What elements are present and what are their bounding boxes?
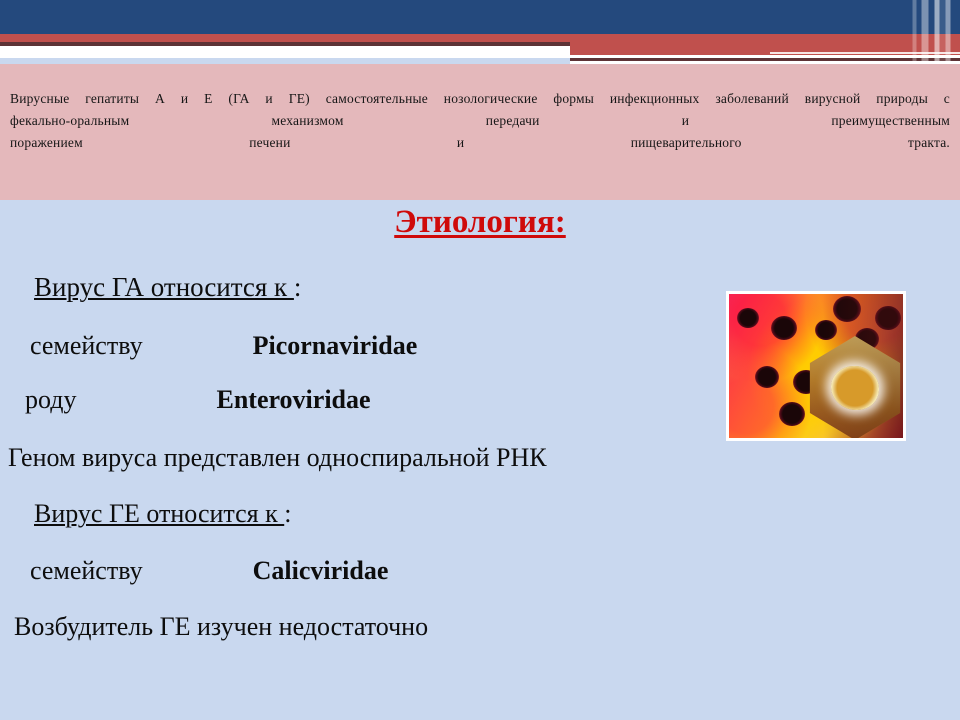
genome-line: Геном вируса представлен односпиральной … <box>8 443 547 473</box>
header-right-thin-rule <box>770 52 960 54</box>
page-title: Этиология: <box>0 204 960 241</box>
slide: Вирусные гепатиты А и Е (ГА и ГЕ) самост… <box>0 0 960 720</box>
family-row-1: семействуPicornaviridae <box>30 331 417 361</box>
intro-paragraph: Вирусные гепатиты А и Е (ГА и ГЕ) самост… <box>10 88 950 154</box>
intro-line-2: фекально-оральным механизмом передачи и … <box>10 110 950 132</box>
header-navy-band <box>0 0 960 34</box>
virus-e-heading: Вирус ГЕ относится к : <box>34 499 291 529</box>
micrograph-canvas <box>729 294 903 438</box>
genus-value: Enteroviridae <box>216 385 370 414</box>
virus-a-heading-text: Вирус ГА относится к <box>34 272 294 302</box>
virus-a-heading-colon: : <box>294 272 302 302</box>
family-value-2: Calicviridae <box>253 556 389 585</box>
family-value-1: Picornaviridae <box>253 331 418 360</box>
hepatitis-virus-micrograph <box>726 291 906 441</box>
header-left-white-band <box>0 46 570 58</box>
virus-e-heading-text: Вирус ГЕ относится к <box>34 499 284 528</box>
capsid-core <box>831 366 879 410</box>
virus-e-heading-colon: : <box>284 499 291 528</box>
intro-line-3: поражением печени и пищеварительного тра… <box>10 132 950 154</box>
virus-particle <box>737 308 759 328</box>
virus-particle <box>771 316 797 340</box>
virus-a-heading: Вирус ГА относится к : <box>34 272 301 303</box>
genus-label: роду <box>25 385 76 414</box>
genus-row: родуEnteroviridae <box>25 385 371 415</box>
family-label-2: семейству <box>30 556 143 585</box>
agent-line: Возбудитель ГЕ изучен недостаточно <box>14 612 428 642</box>
virus-particle <box>779 402 805 426</box>
virus-particle <box>755 366 779 388</box>
intro-line-1: Вирусные гепатиты А и Е (ГА и ГЕ) самост… <box>10 91 950 106</box>
family-label-1: семейству <box>30 331 143 360</box>
family-row-2: семействуCalicviridae <box>30 556 388 586</box>
